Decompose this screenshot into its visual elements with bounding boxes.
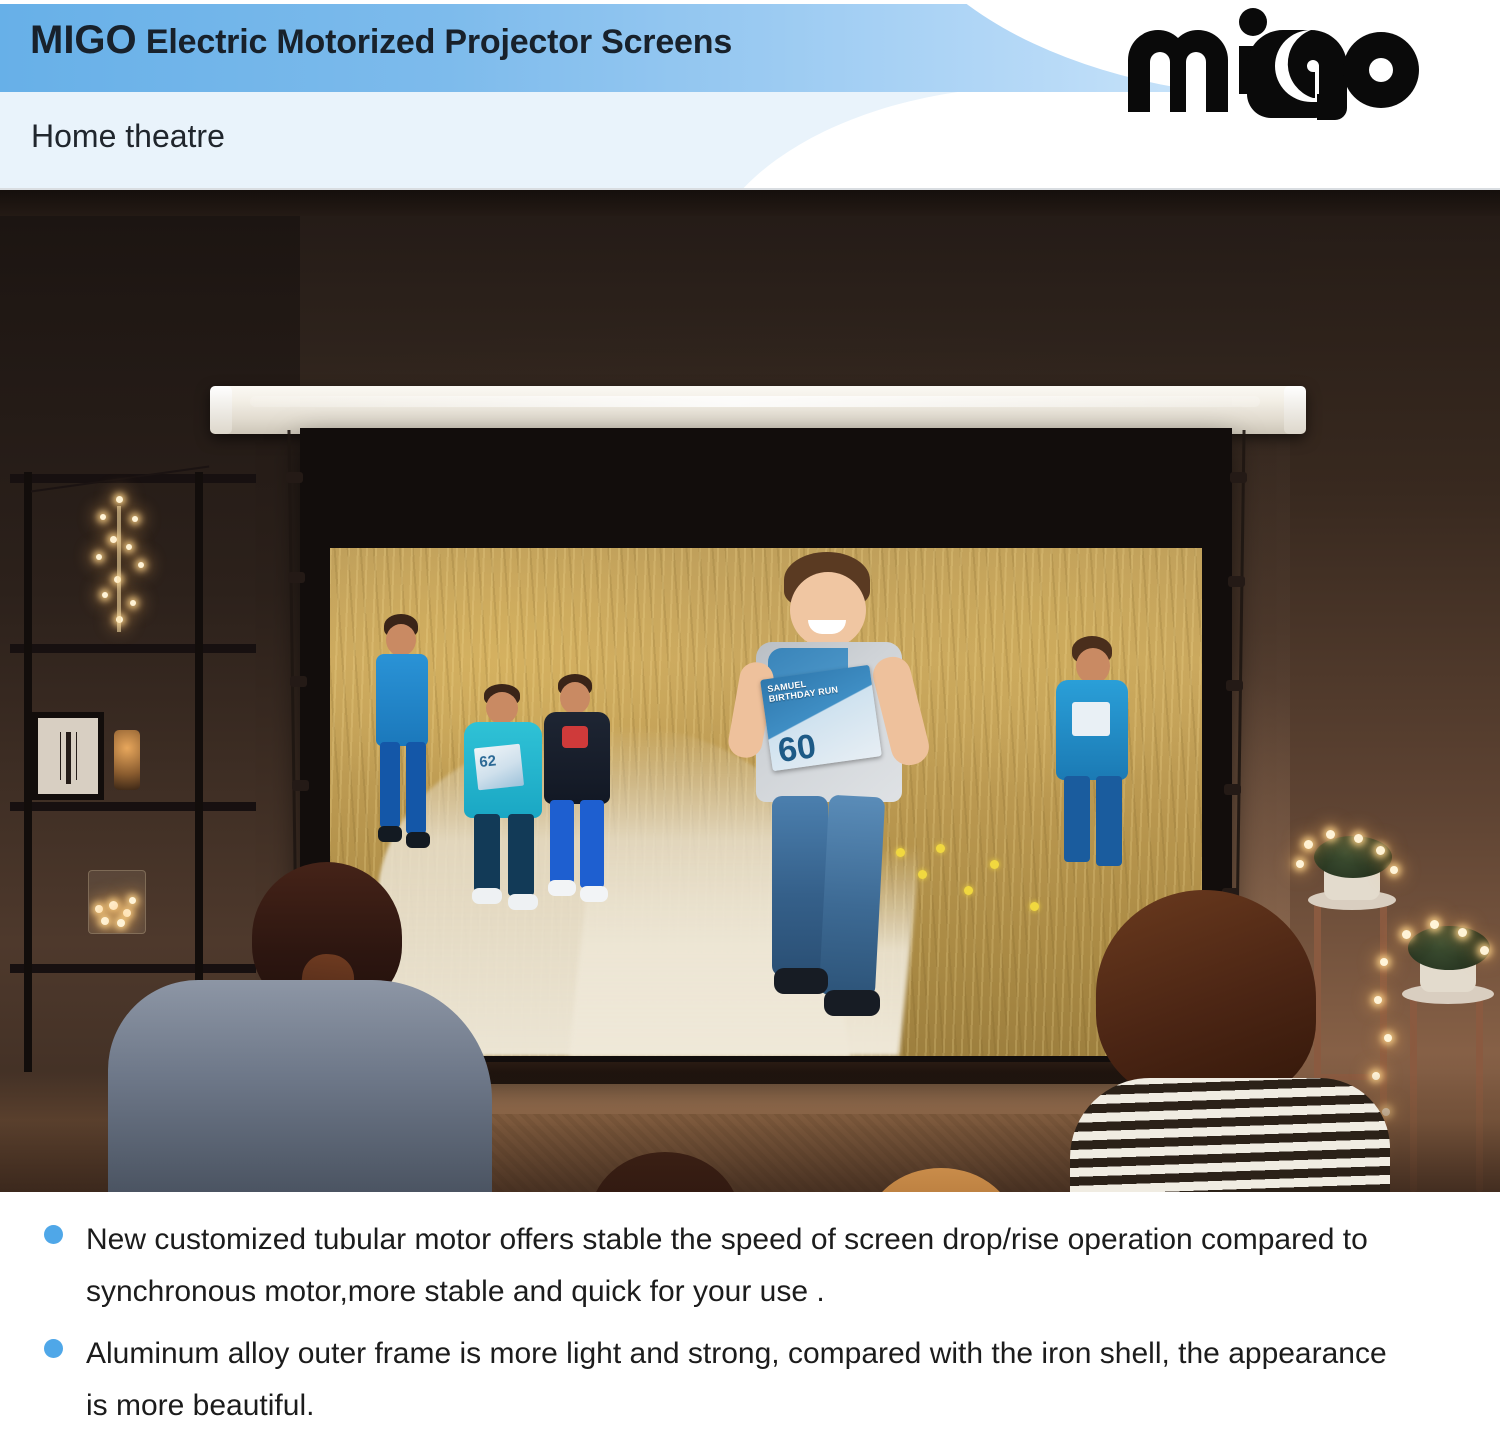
tension-clip	[1230, 472, 1247, 483]
projected-flower	[936, 844, 945, 853]
bullet-dot-icon	[44, 1225, 63, 1244]
projected-bib-title: SAMUEL BIRTHDAY RUN	[767, 674, 839, 704]
viewer-hair	[590, 1152, 740, 1192]
casing-highlight	[250, 396, 1260, 407]
viewer-adult-left	[92, 862, 492, 1192]
page-header: MIGO Electric Motorized Projector Screen…	[0, 0, 1500, 190]
tension-clip	[292, 780, 309, 791]
tension-clip	[288, 572, 305, 583]
projected-flower	[1030, 902, 1039, 911]
framed-picture	[32, 712, 104, 800]
projected-flower	[964, 886, 973, 895]
viewer-woman-right	[1060, 890, 1390, 1192]
plant-foliage	[1314, 836, 1392, 878]
brand-word: MIGO	[30, 18, 137, 62]
casing-end-cap	[1284, 386, 1306, 434]
plant-foliage	[1408, 926, 1490, 970]
feature-bullets: New customized tubular motor offers stab…	[0, 1192, 1500, 1437]
tension-clip	[1224, 784, 1241, 795]
shelf-post	[24, 472, 32, 1072]
bullet-text: Aluminum alloy outer frame is more light…	[86, 1328, 1416, 1432]
projected-runner-main: SAMUEL BIRTHDAY RUN 60	[732, 552, 922, 1056]
viewer-hair	[866, 1168, 1016, 1192]
page-subtitle: Home theatre	[31, 118, 225, 155]
projected-flower	[896, 848, 905, 857]
migo-logo	[1122, 8, 1422, 120]
bullet-item: Aluminum alloy outer frame is more light…	[0, 1328, 1500, 1432]
shelf-board	[10, 644, 256, 653]
tension-clip	[290, 676, 307, 687]
viewer-hair	[1096, 890, 1316, 1102]
shelf-board	[10, 802, 256, 811]
casing-end-cap	[210, 386, 232, 434]
tension-clip	[1228, 576, 1245, 587]
projected-bib-secondary: 62	[474, 744, 524, 791]
title-rest: Electric Motorized Projector Screens	[146, 23, 732, 61]
projected-bib-secondary-number: 62	[479, 753, 497, 770]
home-theatre-photo: 62	[0, 190, 1500, 1192]
tension-clip	[286, 472, 303, 483]
projected-flower	[990, 860, 999, 869]
projected-runner-dark	[536, 674, 622, 904]
bullet-dot-icon	[44, 1339, 63, 1358]
viewer-striped-shirt	[1070, 1078, 1390, 1192]
tension-clip	[1226, 680, 1243, 691]
candle-holder	[114, 730, 140, 790]
bullet-item: New customized tubular motor offers stab…	[0, 1214, 1500, 1318]
projected-bib-number: 60	[776, 729, 818, 768]
viewer-boy-plaid	[838, 1168, 1068, 1192]
bullet-text: New customized tubular motor offers stab…	[86, 1214, 1416, 1318]
motorized-screen-casing	[210, 386, 1306, 434]
projected-flower	[918, 870, 927, 879]
light-tree-decoration	[88, 492, 150, 640]
page-title: MIGO Electric Motorized Projector Screen…	[30, 18, 732, 63]
viewer-shirt	[108, 980, 492, 1192]
migo-logo-icon	[1122, 8, 1422, 120]
projected-race-bib: SAMUEL BIRTHDAY RUN 60	[760, 665, 882, 771]
viewer-girl-orange	[562, 1152, 812, 1192]
ceiling	[0, 190, 1500, 216]
projected-runner-back	[364, 614, 442, 874]
projected-runner-right	[1046, 636, 1142, 886]
